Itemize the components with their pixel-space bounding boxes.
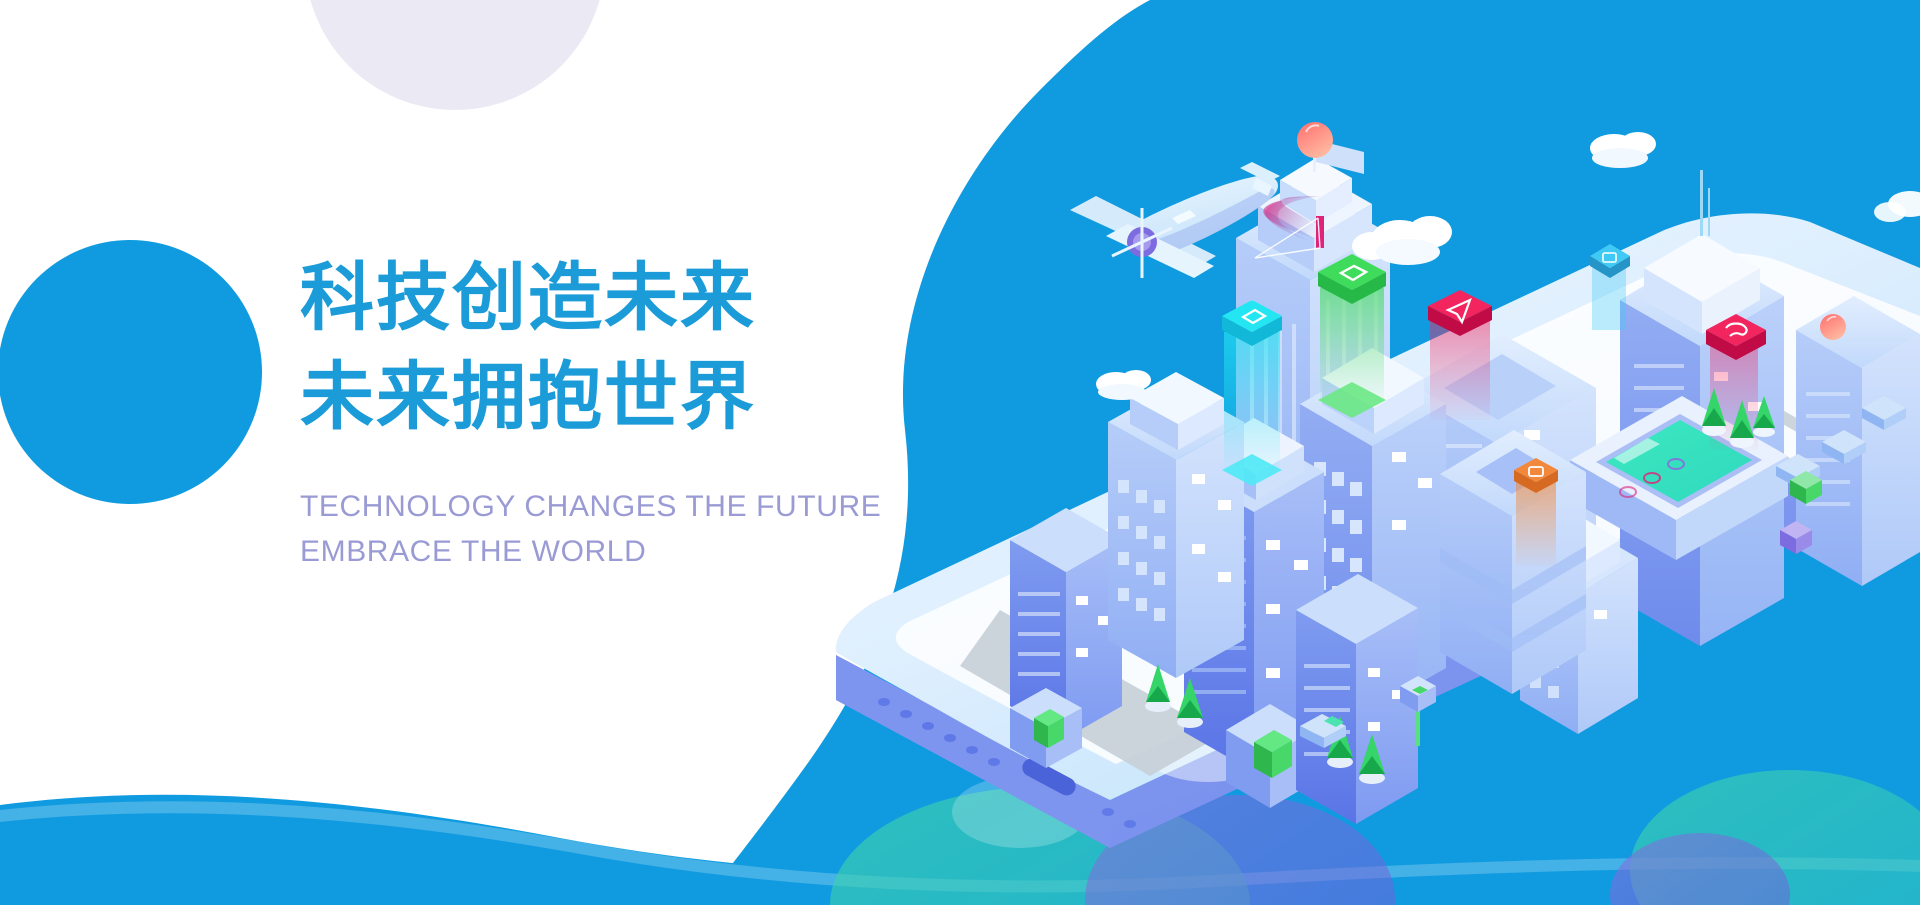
subtitle-block: TECHNOLOGY CHANGES THE FUTURE EMBRACE TH… [300, 484, 920, 574]
background-shapes [0, 0, 1920, 905]
subtitle-line-1: TECHNOLOGY CHANGES THE FUTURE [300, 484, 920, 529]
headline-line-2: 未来拥抱世界 [300, 347, 920, 446]
pale-oval [952, 776, 1088, 848]
solid-blue-circle [0, 240, 262, 504]
banner-text-block: 科技创造未来 未来拥抱世界 TECHNOLOGY CHANGES THE FUT… [300, 248, 920, 574]
headline-line-1: 科技创造未来 [300, 248, 920, 347]
subtitle-line-2: EMBRACE THE WORLD [300, 529, 920, 574]
hero-banner: 科技创造未来 未来拥抱世界 TECHNOLOGY CHANGES THE FUT… [0, 0, 1920, 905]
